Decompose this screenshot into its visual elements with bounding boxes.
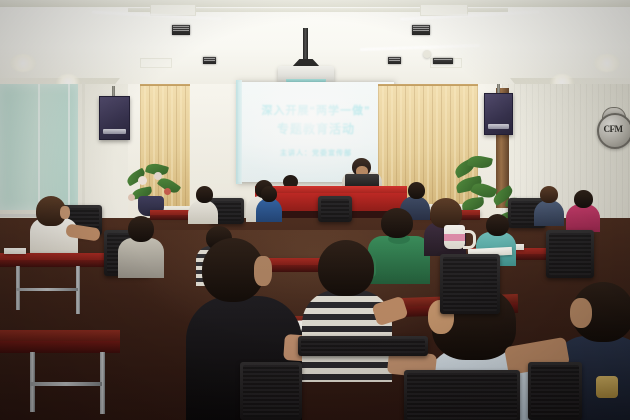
ceiling-vent xyxy=(388,57,401,64)
person-body xyxy=(118,238,164,278)
chair xyxy=(546,230,594,278)
desk-crossbar xyxy=(30,382,102,386)
ceiling-beam xyxy=(0,0,630,7)
ceiling-light xyxy=(10,54,36,72)
chair xyxy=(318,196,352,222)
person-head xyxy=(540,186,558,203)
person-ear xyxy=(254,256,272,286)
projector-mount-pole xyxy=(303,28,308,62)
chair xyxy=(440,254,500,314)
ceiling-vent xyxy=(412,25,430,35)
person-head xyxy=(574,190,593,208)
wall-panel-frame xyxy=(0,82,85,217)
chair xyxy=(240,362,302,420)
ceiling-vent xyxy=(203,57,216,64)
ceiling-tile xyxy=(140,58,172,68)
ceiling-light xyxy=(594,54,620,72)
mug-handle xyxy=(463,230,476,249)
person-head xyxy=(196,186,213,203)
ceiling-vent xyxy=(433,58,453,64)
person-body xyxy=(188,200,218,224)
person-head xyxy=(486,214,509,236)
person-head xyxy=(318,240,374,296)
smoke-detector-icon xyxy=(423,50,431,58)
screen-left-edge xyxy=(236,80,242,184)
desk-crossbar xyxy=(16,288,78,291)
person-head xyxy=(408,182,425,199)
person-head xyxy=(430,198,462,228)
chair xyxy=(404,370,520,420)
bag-strap xyxy=(596,376,618,398)
person-ear xyxy=(570,298,592,328)
chair xyxy=(528,362,582,420)
speaker-left xyxy=(99,96,130,140)
conference-room-photo: 深入开展“两学一做” 专题教育活动 主讲人：党委宣传部 CFM xyxy=(0,0,630,420)
person-head xyxy=(261,186,277,202)
person-head xyxy=(128,216,154,242)
chair-back-rail xyxy=(298,336,428,356)
paper xyxy=(4,248,26,254)
speaker-right xyxy=(484,93,513,135)
wall-emblem-text: CFM xyxy=(596,124,630,134)
laptop xyxy=(345,174,379,186)
person-body xyxy=(534,200,564,226)
mug-band xyxy=(444,234,465,241)
person-body-magenta xyxy=(566,204,600,232)
ceiling-vent xyxy=(172,25,190,35)
wall-emblem: CFM xyxy=(596,107,630,149)
person-face xyxy=(60,206,70,219)
person-head xyxy=(381,208,413,238)
